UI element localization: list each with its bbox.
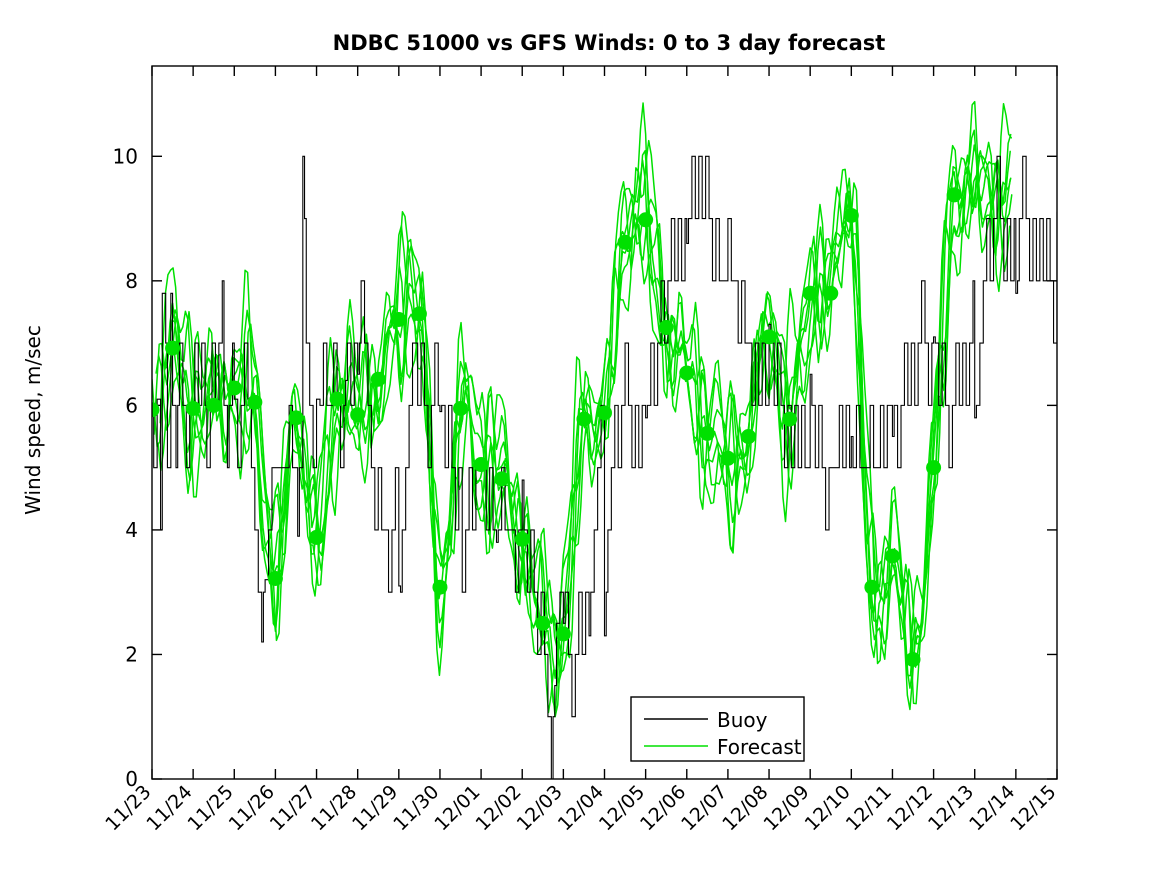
forecast-marker-dot: [556, 626, 571, 641]
forecast-marker-dot: [453, 401, 468, 416]
forecast-marker-dot: [844, 208, 859, 223]
forecast-marker-dot: [371, 372, 386, 387]
forecast-marker-dot: [474, 457, 489, 472]
forecast-marker-dot: [535, 616, 550, 631]
forecast-marker-dot: [597, 405, 612, 420]
y-tick-label: 8: [125, 269, 138, 293]
forecast-marker-dot: [412, 306, 427, 321]
forecast-marker-dot: [350, 407, 365, 422]
forecast-marker-dot: [700, 426, 715, 441]
y-tick-label: 4: [125, 518, 138, 542]
forecast-marker-dot: [659, 320, 674, 335]
forecast-marker-dot: [803, 286, 818, 301]
forecast-marker-dot: [823, 286, 838, 301]
forecast-marker-dot: [618, 235, 633, 250]
forecast-marker-dot: [247, 395, 262, 410]
y-tick-label: 6: [125, 393, 138, 417]
forecast-marker-dot: [885, 549, 900, 564]
forecast-marker-dot: [432, 580, 447, 595]
forecast-marker-dot: [741, 429, 756, 444]
forecast-marker-dot: [288, 410, 303, 425]
forecast-marker-dot: [926, 460, 941, 475]
forecast-marker-dot: [720, 451, 735, 466]
forecast-marker-dot: [165, 341, 180, 356]
wind-speed-chart: NDBC 51000 vs GFS Winds: 0 to 3 day fore…: [0, 0, 1167, 875]
forecast-marker-dot: [206, 398, 221, 413]
forecast-marker-dot: [576, 412, 591, 427]
forecast-marker-dot: [864, 580, 879, 595]
forecast-marker-dot: [227, 380, 242, 395]
forecast-marker-dot: [762, 329, 777, 344]
forecast-marker-dot: [638, 212, 653, 227]
forecast-marker-dot: [330, 392, 345, 407]
forecast-marker-dot: [268, 571, 283, 586]
figure-container: NDBC 51000 vs GFS Winds: 0 to 3 day fore…: [0, 0, 1167, 875]
legend-label-buoy: Buoy: [717, 708, 768, 732]
forecast-marker-dot: [782, 412, 797, 427]
chart-legend[interactable]: Buoy Forecast: [631, 697, 804, 761]
y-tick-label: 2: [125, 642, 138, 666]
forecast-marker-dot: [679, 365, 694, 380]
forecast-marker-dot: [186, 401, 201, 416]
y-tick-label: 10: [113, 144, 138, 168]
y-axis-label: Wind speed, m/sec: [21, 325, 45, 515]
legend-label-forecast: Forecast: [717, 735, 802, 759]
forecast-marker-dot: [494, 471, 509, 486]
chart-title: NDBC 51000 vs GFS Winds: 0 to 3 day fore…: [333, 31, 886, 55]
chart-background: [0, 0, 1167, 875]
forecast-marker-dot: [947, 187, 962, 202]
forecast-marker-dot: [906, 652, 921, 667]
forecast-marker-dot: [391, 312, 406, 327]
forecast-marker-dot: [309, 530, 324, 545]
forecast-marker-dot: [515, 532, 530, 547]
